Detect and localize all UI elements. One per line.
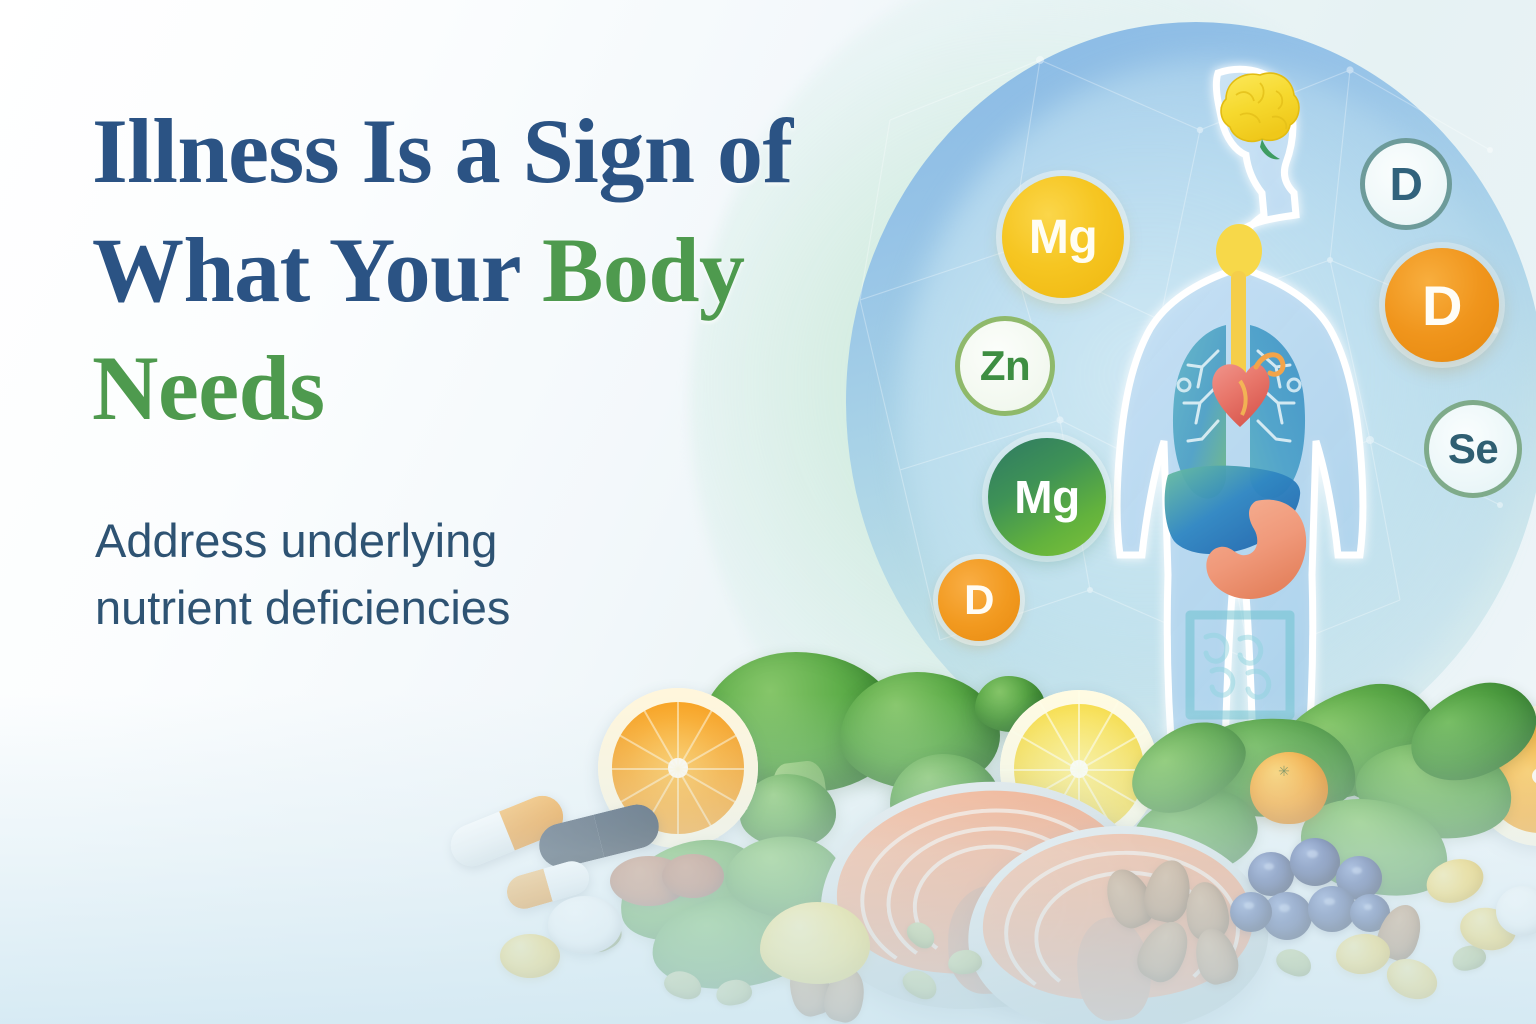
page-subtitle: Address underlying nutrient deficiencies [95, 508, 715, 641]
bottom-fade-overlay [0, 694, 1536, 1024]
nutrient-badge-vitamin-d-large[interactable]: D [1385, 248, 1499, 362]
headline-line-2-green: Body [542, 219, 745, 321]
nutrient-badge-vitamin-d-outline[interactable]: D [1360, 138, 1452, 230]
headline-line-1: Illness Is a Sign of [92, 92, 992, 211]
headline-line-3: Needs [92, 329, 992, 448]
headline-line-2: What Your Body [92, 211, 992, 330]
poster-canvas: Mg Zn Mg D D D Se [0, 0, 1536, 1024]
page-title: Illness Is a Sign of What Your Body Need… [92, 92, 992, 448]
subtitle-line-2: nutrient deficiencies [95, 575, 715, 642]
subtitle-line-1: Address underlying [95, 508, 715, 575]
nutrient-badge-magnesium-green[interactable]: Mg [988, 438, 1106, 556]
headline-line-2-blue: What Your [92, 219, 542, 321]
nutrient-badge-magnesium-gold[interactable]: Mg [1002, 176, 1124, 298]
nutrient-badge-selenium[interactable]: Se [1424, 400, 1522, 498]
